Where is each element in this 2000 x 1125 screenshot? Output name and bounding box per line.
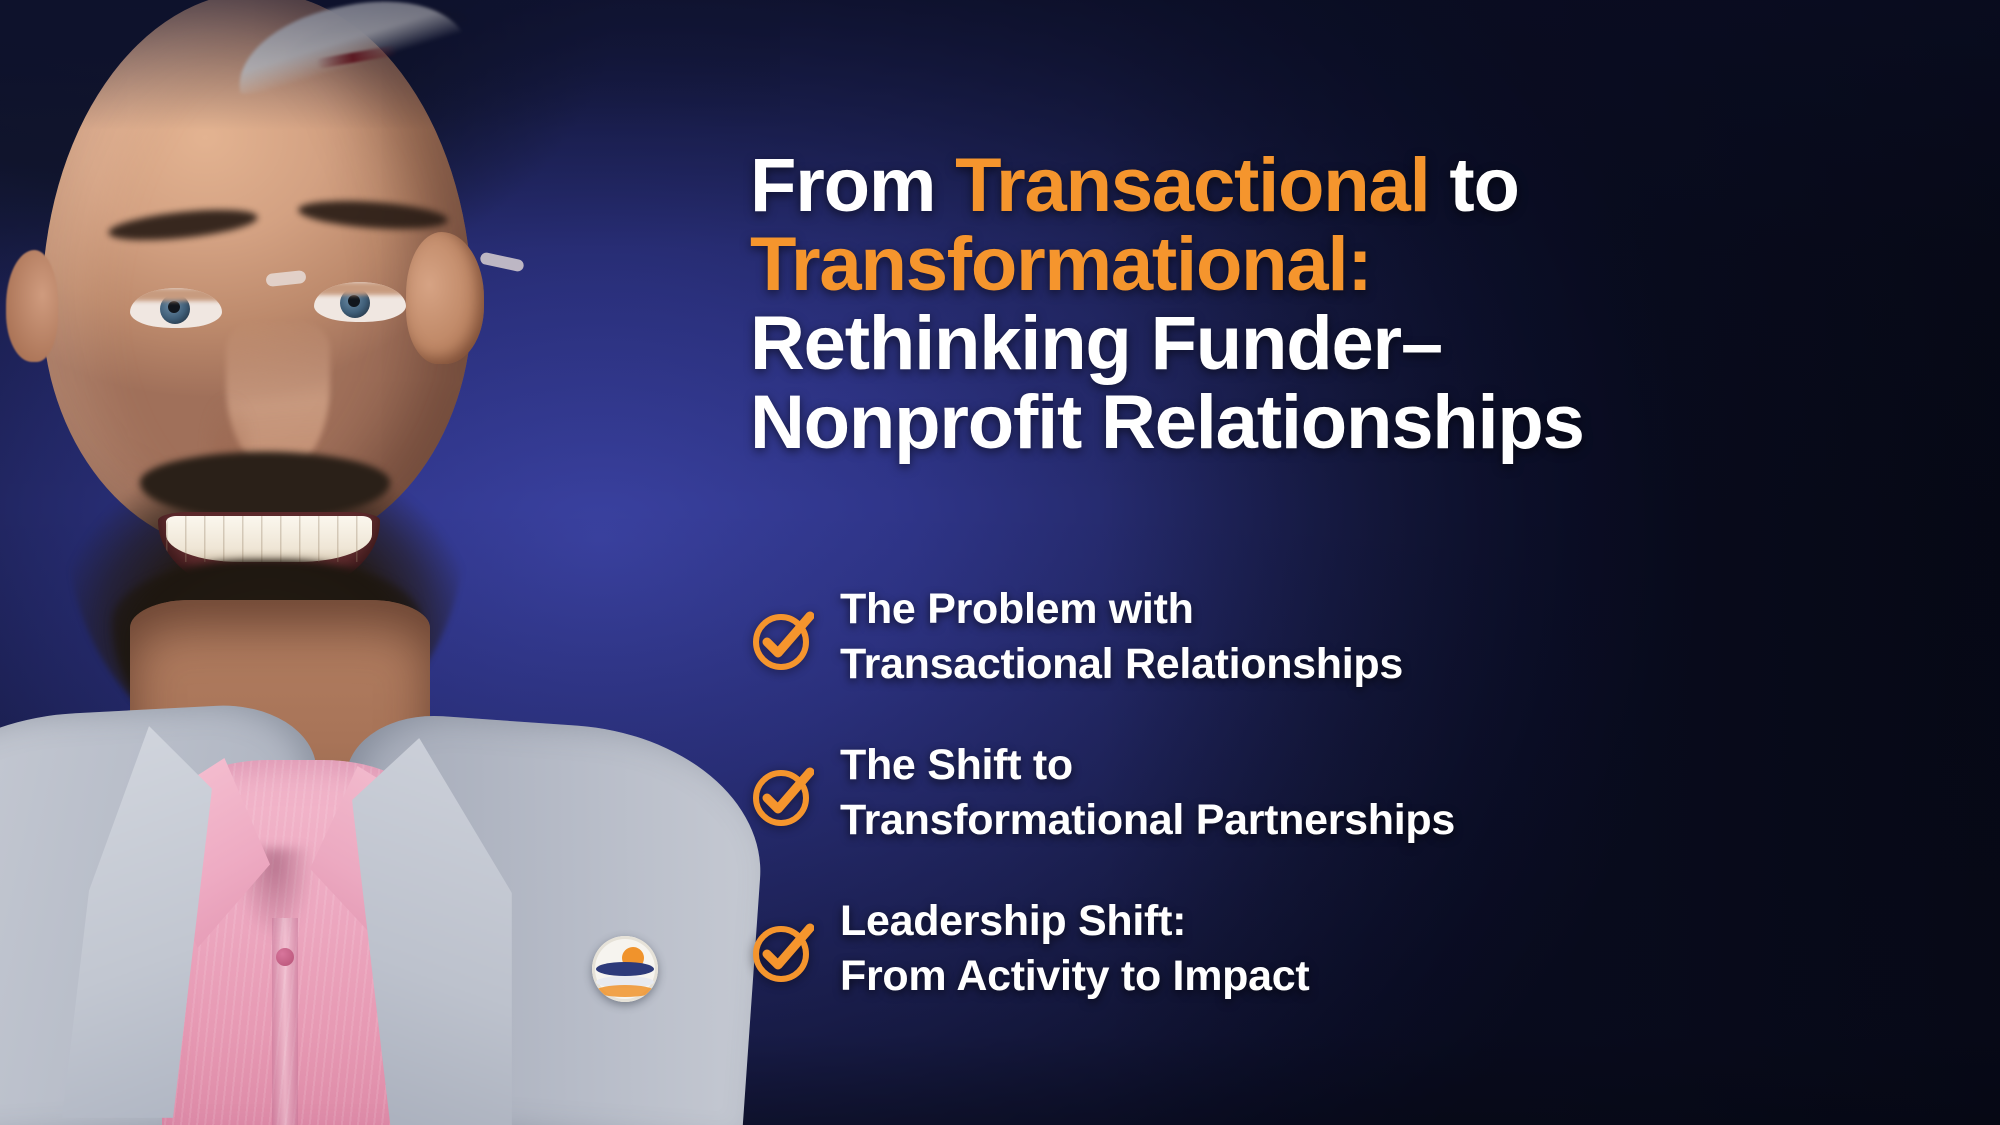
slide-content: From Transactional toTransformational:Re… [750,0,2000,1125]
title-run-1-3: to [1429,143,1518,228]
check-circle-icon [750,764,814,828]
bullet-list: The Problem with Transactional Relations… [750,582,1950,1004]
presentation-slide: From Transactional toTransformational:Re… [0,0,2000,1125]
mustache [140,452,390,518]
bullet-item-2: The Shift to Transformational Partnershi… [750,738,1950,848]
title-line-1: From Transactional to [750,146,1950,225]
teeth-separations [166,516,372,562]
lapel-pin-icon [592,936,658,1002]
title-line-2: Transformational: [750,225,1950,304]
page-title: From Transactional toTransformational:Re… [750,146,1950,462]
glasses-left-lens [54,245,274,408]
bullet-item-1: The Problem with Transactional Relations… [750,582,1950,692]
shirt-button [276,948,294,966]
title-line-4: Nonprofit Relationships [750,383,1950,462]
glasses-right-lens [289,232,506,391]
portrait-photo [0,0,780,1125]
check-circle-icon [750,920,814,984]
bullet-label-3: Leadership Shift: From Activity to Impac… [840,894,1309,1004]
bullet-label-1: The Problem with Transactional Relations… [840,582,1403,692]
pin-wave-navy [596,962,654,976]
title-run-4-1: Nonprofit Relationships [750,380,1584,465]
title-run-1-1: From [750,143,955,228]
title-run-3-1: Rethinking Funder– [750,301,1442,386]
title-run-1-2: Transactional [955,143,1429,228]
bullet-item-3: Leadership Shift: From Activity to Impac… [750,894,1950,1004]
pin-wave-orange [596,985,654,997]
check-circle-icon [750,608,814,672]
title-run-2-1: Transformational: [750,222,1371,307]
title-line-3: Rethinking Funder– [750,304,1950,383]
bullet-label-2: The Shift to Transformational Partnershi… [840,738,1455,848]
left-ear [6,250,58,362]
